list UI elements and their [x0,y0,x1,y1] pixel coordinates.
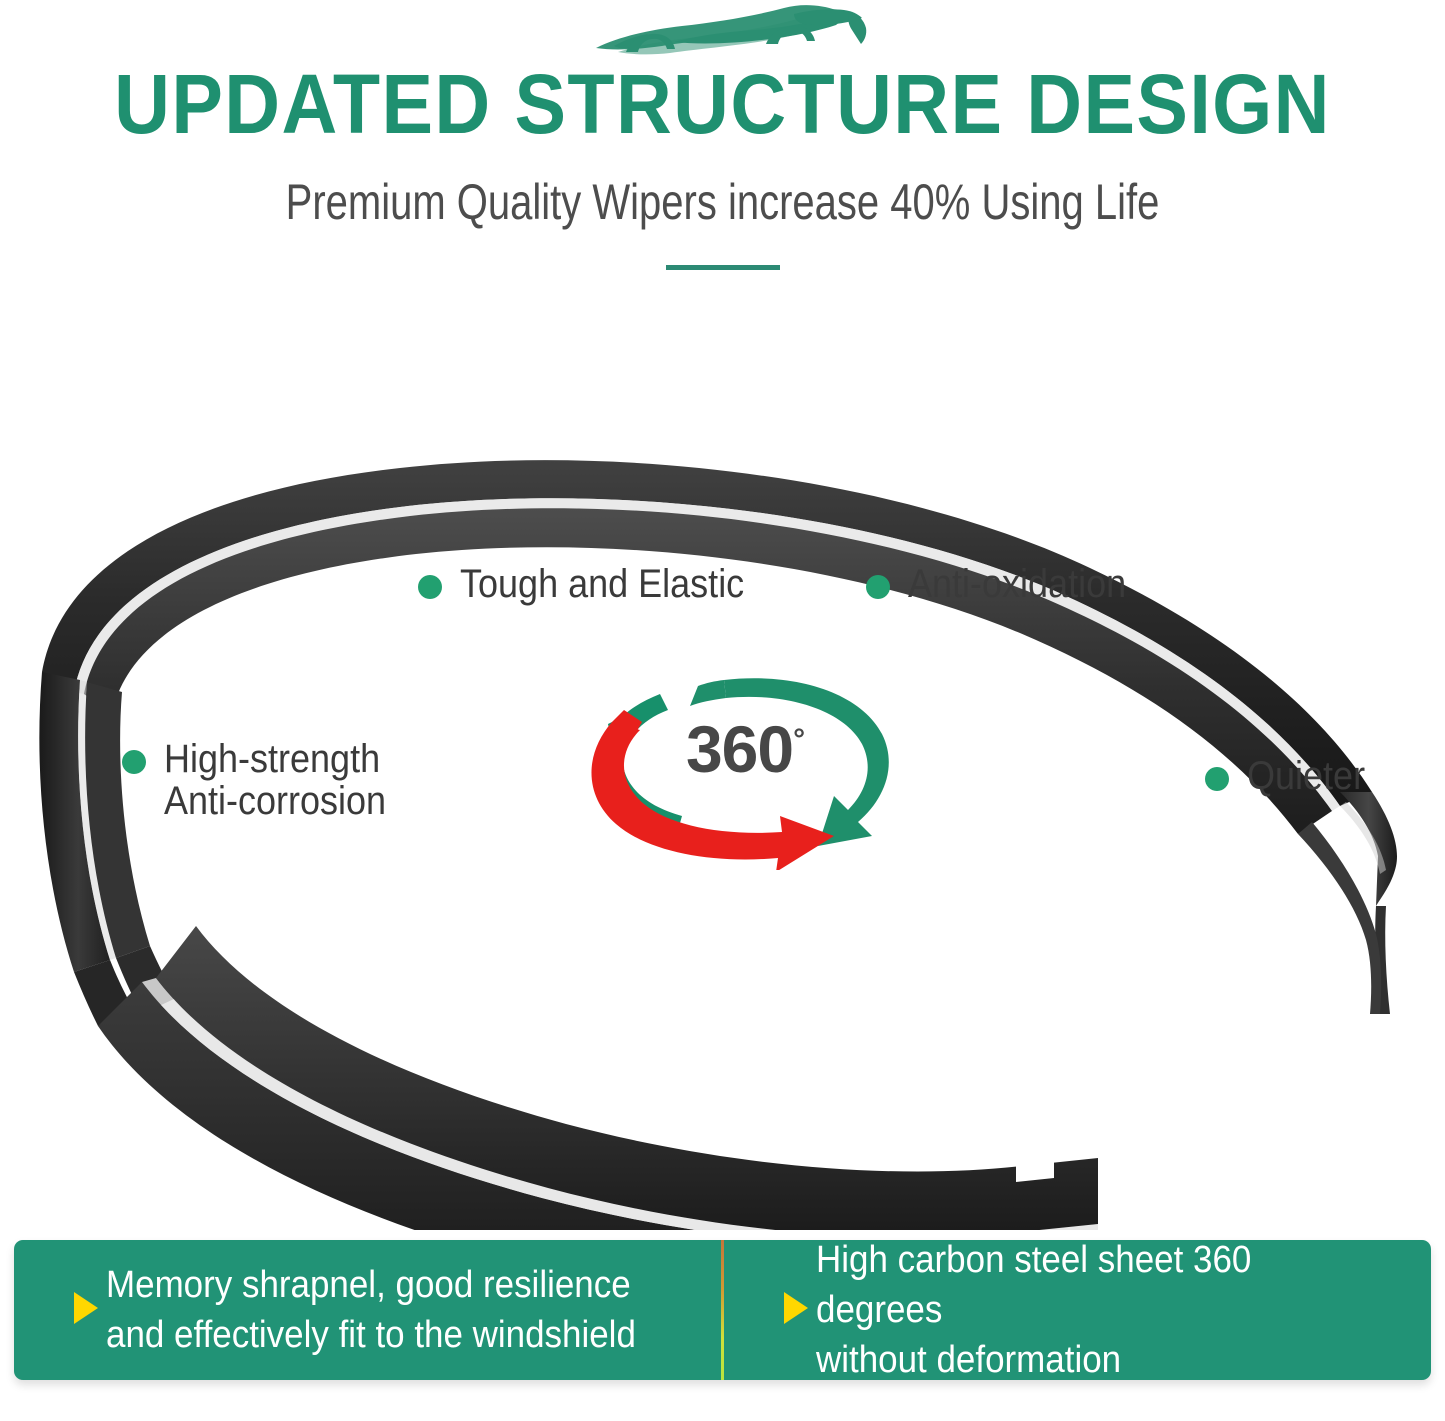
triangle-arrow-icon [74,1292,98,1324]
product-infographic: UPDATED STRUCTURE DESIGN Premium Quality… [0,0,1445,1421]
page-subtitle: Premium Quality Wipers increase 40% Usin… [145,172,1301,232]
feature-label-tough-elastic: Tough and Elastic [418,563,776,605]
car-silhouette-icon [578,4,868,60]
360-number: 360 [686,712,793,786]
feature-text: Quieter [1247,755,1365,797]
feature-label-high-strength: High-strength Anti-corrosion [122,738,411,822]
feature-text: Tough and Elastic [460,563,744,605]
feature-text: Anti-oxidation [908,563,1126,605]
bottom-feature-banner: Memory shrapnel, good resilience and eff… [14,1240,1431,1380]
feature-label-anti-oxidation: Anti-oxidation [866,563,1150,605]
title-divider [666,265,780,270]
feature-text: High-strength Anti-corrosion [164,738,386,822]
page-title: UPDATED STRUCTURE DESIGN [58,58,1387,150]
bullet-dot-icon [866,575,890,599]
bullet-dot-icon [418,575,442,599]
degree-symbol: ° [793,723,804,756]
360-value-label: 360° [572,716,918,782]
banner-item-high-carbon-steel: High carbon steel sheet 360 degrees with… [724,1240,1431,1380]
header-section: UPDATED STRUCTURE DESIGN Premium Quality… [0,0,1445,300]
banner-text: High carbon steel sheet 360 degrees with… [816,1240,1382,1380]
banner-text: Memory shrapnel, good resilience and eff… [106,1260,636,1360]
bullet-dot-icon [122,750,146,774]
360-degree-badge: 360° [572,650,918,870]
bullet-dot-icon [1205,767,1229,791]
feature-label-quieter: Quieter [1205,755,1378,797]
triangle-arrow-icon [784,1292,808,1324]
banner-item-memory-shrapnel: Memory shrapnel, good resilience and eff… [14,1240,721,1380]
